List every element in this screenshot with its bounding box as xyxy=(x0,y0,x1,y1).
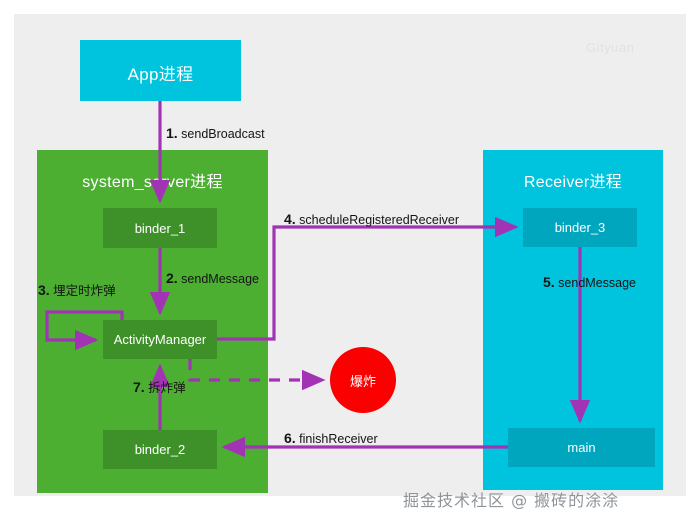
label-step-2-num: 2. xyxy=(166,270,178,286)
node-binder-3[interactable]: binder_3 xyxy=(523,208,637,247)
diagram-canvas: Gityuan App进程 system_server进程 Receiver进程 xyxy=(0,0,700,525)
node-binder-1-label: binder_1 xyxy=(135,221,186,236)
label-step-5: 5. sendMessage xyxy=(543,275,636,290)
label-step-5-num: 5. xyxy=(543,274,555,290)
node-activity-manager-label: ActivityManager xyxy=(114,332,206,347)
label-step-7-text: 拆炸弹 xyxy=(148,381,186,395)
label-step-4: 4. scheduleRegisteredReceiver xyxy=(284,212,459,227)
label-step-7-num: 7. xyxy=(133,379,145,395)
node-binder-3-label: binder_3 xyxy=(555,220,606,235)
node-main[interactable]: main xyxy=(508,428,655,467)
label-step-7: 7. 拆炸弹 xyxy=(133,380,186,395)
node-binder-2-label: binder_2 xyxy=(135,442,186,457)
label-step-6: 6. finishReceiver xyxy=(284,431,378,446)
label-step-6-text: finishReceiver xyxy=(299,432,378,446)
label-step-4-num: 4. xyxy=(284,211,296,227)
node-binder-1[interactable]: binder_1 xyxy=(103,208,217,248)
label-step-2-text: sendMessage xyxy=(181,272,259,286)
node-explosion-label: 爆炸 xyxy=(350,371,376,390)
label-step-3-num: 3. xyxy=(38,282,50,298)
label-step-1-num: 1. xyxy=(166,125,178,141)
label-step-4-text: scheduleRegisteredReceiver xyxy=(299,213,459,227)
label-step-1: 1. sendBroadcast xyxy=(166,126,265,141)
node-activity-manager[interactable]: ActivityManager xyxy=(103,320,217,359)
arrow-step-4 xyxy=(217,227,516,339)
node-binder-2[interactable]: binder_2 xyxy=(103,430,217,469)
node-explosion[interactable]: 爆炸 xyxy=(330,347,396,413)
node-main-label: main xyxy=(567,440,595,455)
label-step-3: 3. 埋定时炸弹 xyxy=(38,283,116,298)
label-step-1-text: sendBroadcast xyxy=(181,127,264,141)
label-step-2: 2. sendMessage xyxy=(166,271,259,286)
label-step-5-text: sendMessage xyxy=(558,276,636,290)
label-step-6-num: 6. xyxy=(284,430,296,446)
arrow-timer-bomb-dashed xyxy=(190,359,323,380)
label-step-3-text: 埋定时炸弹 xyxy=(53,284,116,298)
watermark-juejin: 掘金技术社区 @ 搬砖的涂涂 xyxy=(403,487,619,511)
